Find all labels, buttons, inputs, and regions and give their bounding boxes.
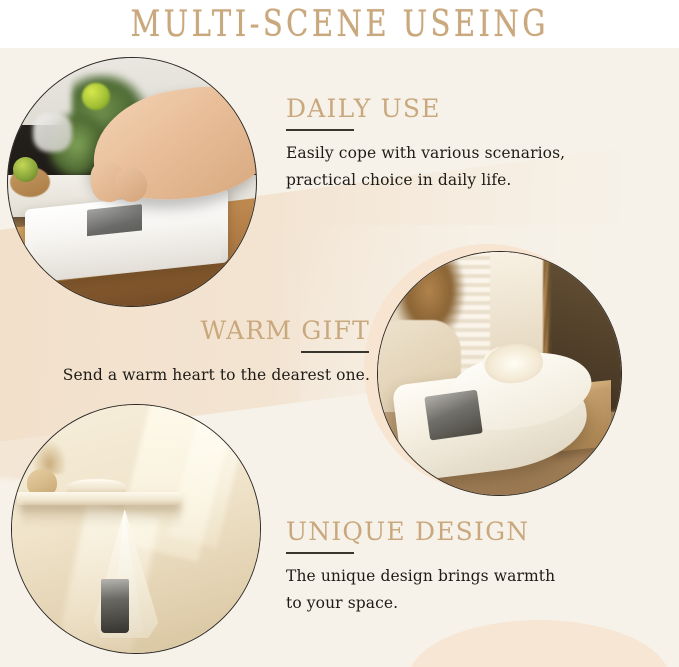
heading-rule	[286, 129, 354, 131]
body-line: Easily cope with various scenarios,	[286, 140, 616, 167]
heading-rule	[301, 351, 369, 353]
section-body-warm-gift: Send a warm heart to the dearest one.	[20, 362, 370, 389]
poster-title: MULTI-SCENE USEING	[130, 3, 548, 46]
body-line: to your space.	[286, 590, 626, 617]
peach-blob-bottom-right	[408, 620, 670, 667]
section-heading-warm-gift: WARM GIFT	[20, 318, 370, 344]
photo-daily-use	[7, 57, 257, 307]
section-daily-use-text: DAILY USE Easily cope with various scena…	[286, 96, 616, 194]
photo-warm-gift	[377, 251, 622, 496]
title-band: MULTI-SCENE USEING	[0, 0, 679, 48]
photo-warm-gift-scene	[378, 252, 621, 495]
section-body-unique-design: The unique design brings warmth to your …	[286, 563, 626, 616]
section-body-daily-use: Easily cope with various scenarios, prac…	[286, 140, 616, 193]
section-heading-unique-design: UNIQUE DESIGN	[286, 519, 626, 545]
section-unique-design-text: UNIQUE DESIGN The unique design brings w…	[286, 519, 626, 617]
body-line: practical choice in daily life.	[286, 167, 616, 194]
product-infographic-poster: MULTI-SCENE USEING	[0, 0, 679, 667]
photo-unique-design	[11, 404, 261, 654]
section-heading-daily-use: DAILY USE	[286, 96, 616, 122]
body-line: Send a warm heart to the dearest one.	[20, 362, 370, 389]
body-line: The unique design brings warmth	[286, 563, 626, 590]
section-warm-gift-text: WARM GIFT Send a warm heart to the deare…	[20, 318, 370, 389]
photo-unique-design-scene	[12, 405, 260, 653]
photo-daily-use-scene	[8, 58, 256, 306]
heading-rule	[286, 552, 354, 554]
